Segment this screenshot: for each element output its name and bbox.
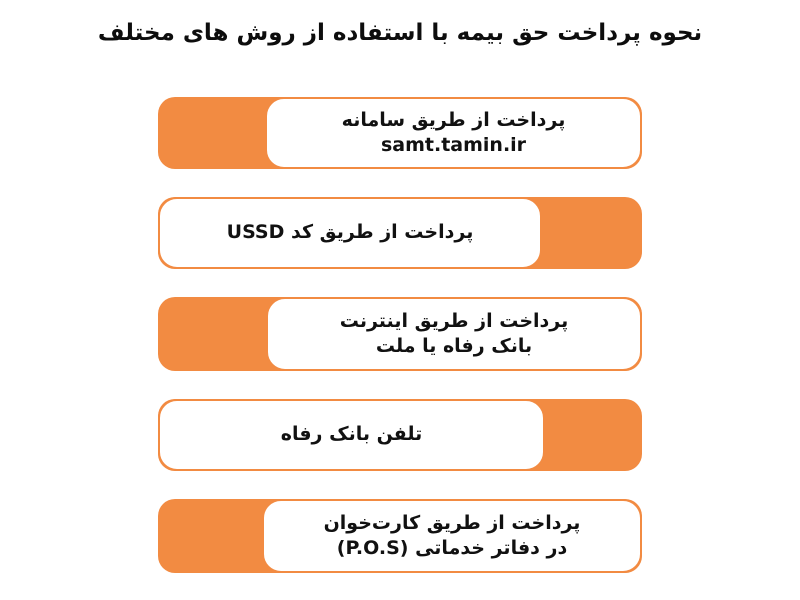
row-label-2: پرداخت از طریق کد USSD bbox=[213, 220, 488, 245]
row-label-4: تلفن بانک رفاه bbox=[267, 422, 436, 447]
row-label-5: پرداخت از طریق کارت‌خوان در دفاتر خدماتی… bbox=[310, 511, 595, 561]
row-card-1[interactable]: پرداخت از طریق سامانه samt.tamin.ir bbox=[265, 97, 642, 169]
list-item[interactable]: پرداخت از طریق کارت‌خوان در دفاتر خدماتی… bbox=[158, 499, 642, 573]
row-card-2[interactable]: پرداخت از طریق کد USSD bbox=[158, 197, 542, 269]
list-item[interactable]: تلفن بانک رفاه bbox=[158, 399, 642, 471]
row-label-3: پرداخت از طریق اینترنت بانک رفاه یا ملت bbox=[326, 309, 583, 359]
row-card-5[interactable]: پرداخت از طریق کارت‌خوان در دفاتر خدماتی… bbox=[262, 499, 642, 573]
payment-methods-infographic: نحوه پرداخت حق بیمه با استفاده از روش ها… bbox=[0, 0, 800, 600]
row-card-3[interactable]: پرداخت از طریق اینترنت بانک رفاه یا ملت bbox=[266, 297, 642, 371]
methods-list: پرداخت از طریق سامانه samt.tamin.ir پردا… bbox=[0, 0, 800, 600]
row-card-4[interactable]: تلفن بانک رفاه bbox=[158, 399, 545, 471]
list-item[interactable]: پرداخت از طریق کد USSD bbox=[158, 197, 642, 269]
row-label-1: پرداخت از طریق سامانه samt.tamin.ir bbox=[328, 108, 580, 158]
list-item[interactable]: پرداخت از طریق اینترنت بانک رفاه یا ملت bbox=[158, 297, 642, 371]
list-item[interactable]: پرداخت از طریق سامانه samt.tamin.ir bbox=[158, 97, 642, 169]
